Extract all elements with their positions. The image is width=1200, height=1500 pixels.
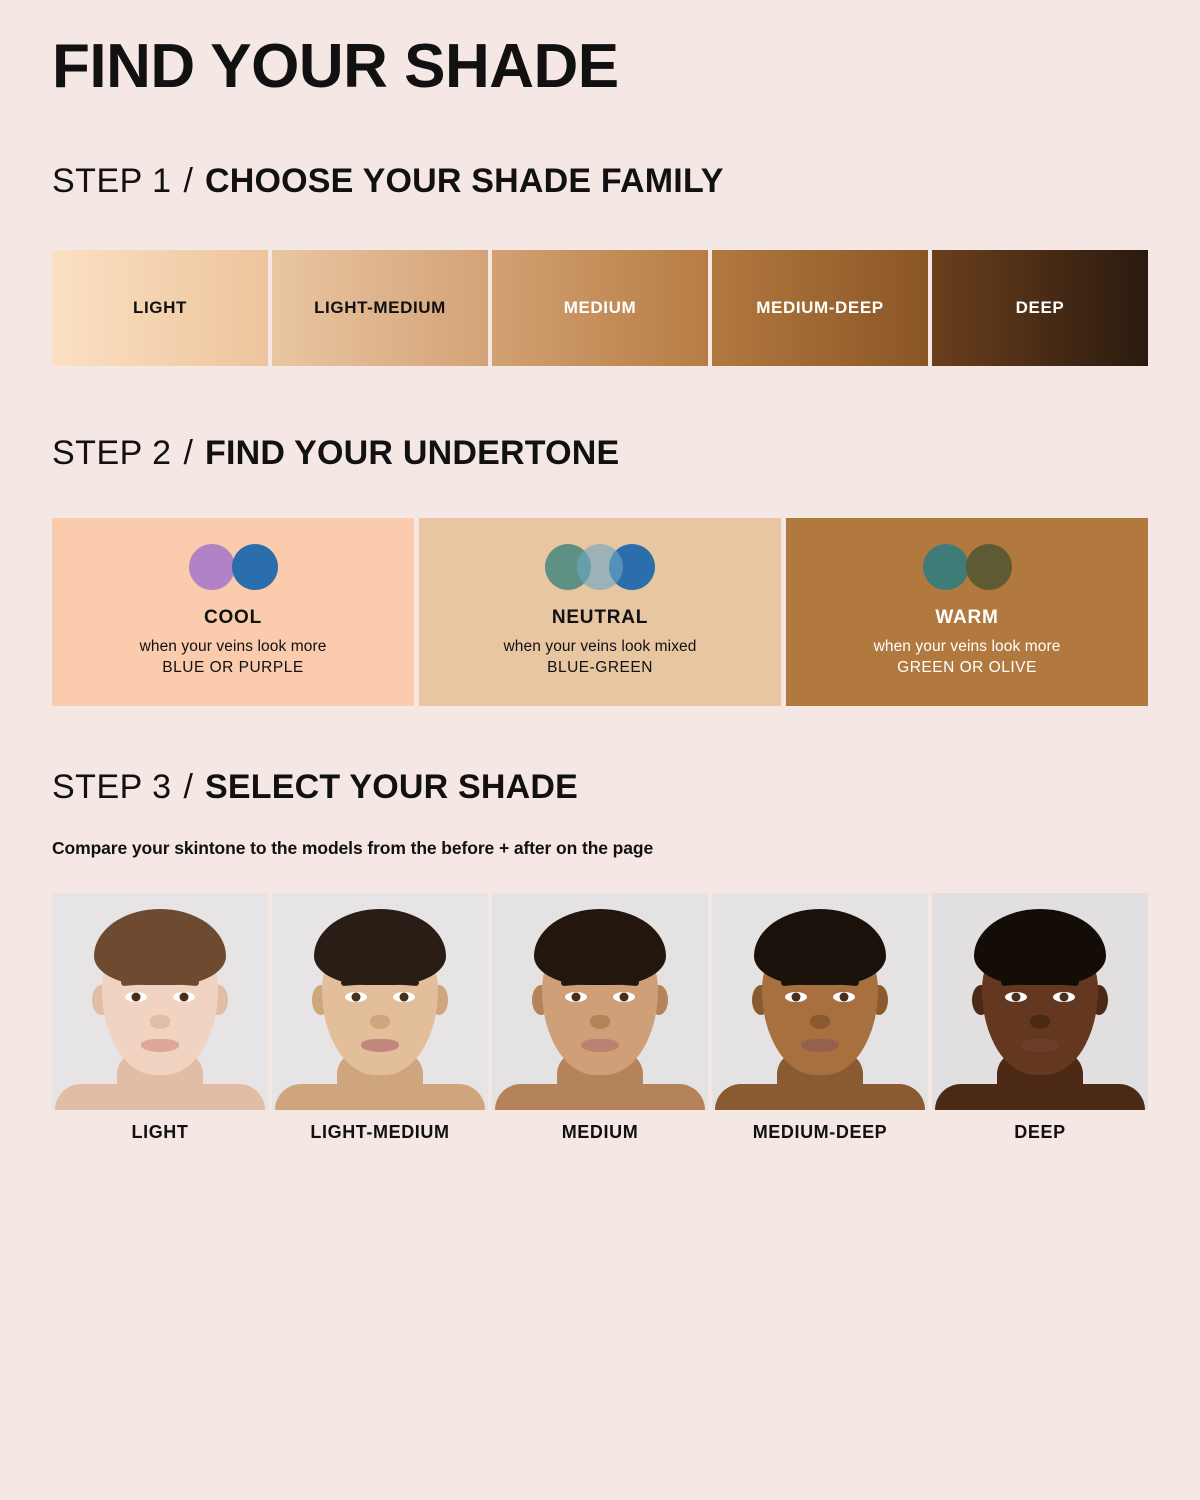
model-eye-left xyxy=(565,992,587,1002)
model-eye-left xyxy=(345,992,367,1002)
undertone-dots-icon xyxy=(52,544,414,590)
model-iris-left xyxy=(132,993,141,1002)
undertone-dots-icon xyxy=(786,544,1148,590)
model-lips xyxy=(141,1039,179,1052)
undertone-title: WARM xyxy=(786,607,1148,629)
shade-family-label: MEDIUM-DEEP xyxy=(756,298,884,318)
model-hair xyxy=(974,909,1106,985)
undertone-panel-cool[interactable]: COOLwhen your veins look moreBLUE OR PUR… xyxy=(52,518,414,706)
model-hair xyxy=(754,909,886,985)
step-2-title: FIND YOUR UNDERTONE xyxy=(205,434,619,472)
model-nose xyxy=(590,1015,610,1029)
model-face-illustration xyxy=(492,893,708,1110)
model-lips xyxy=(1021,1039,1059,1052)
model-hair xyxy=(534,909,666,985)
model-iris-left xyxy=(352,993,361,1002)
model-lips xyxy=(361,1039,399,1052)
undertone-panels: COOLwhen your veins look moreBLUE OR PUR… xyxy=(52,518,1148,706)
shade-family-bar: LIGHTLIGHT-MEDIUMMEDIUMMEDIUM-DEEPDEEP xyxy=(52,250,1148,366)
model-shade-label: DEEP xyxy=(932,1122,1148,1143)
model-photo[interactable] xyxy=(52,893,268,1110)
find-your-shade-page: FIND YOUR SHADE STEP 1/CHOOSE YOUR SHADE… xyxy=(0,0,1200,1500)
model-eye-right xyxy=(393,992,415,1002)
step-1-header: STEP 1/CHOOSE YOUR SHADE FAMILY xyxy=(52,164,724,198)
model-face-illustration xyxy=(712,893,928,1110)
undertone-panel-neutral[interactable]: NEUTRALwhen your veins look mixedBLUE-GR… xyxy=(419,518,781,706)
step-3-title: SELECT YOUR SHADE xyxy=(205,768,578,806)
model-iris-left xyxy=(792,993,801,1002)
shade-family-segment[interactable]: MEDIUM-DEEP xyxy=(712,250,928,366)
undertone-title: COOL xyxy=(52,607,414,629)
step-3-subcopy: Compare your skintone to the models from… xyxy=(52,838,653,859)
model-shade-label: MEDIUM xyxy=(492,1122,708,1143)
model-iris-left xyxy=(1012,993,1021,1002)
undertone-dot-icon xyxy=(923,544,969,590)
model-eye-left xyxy=(1005,992,1027,1002)
model-iris-right xyxy=(620,993,629,1002)
shade-family-segment[interactable]: LIGHT xyxy=(52,250,268,366)
step-1-title: CHOOSE YOUR SHADE FAMILY xyxy=(205,162,724,200)
model-face-illustration xyxy=(52,893,268,1110)
model-nose xyxy=(370,1015,390,1029)
model-face-illustration xyxy=(932,893,1148,1110)
model-lips xyxy=(801,1039,839,1052)
undertone-dot-icon xyxy=(577,544,623,590)
model-nose xyxy=(150,1015,170,1029)
undertone-dots-icon xyxy=(419,544,781,590)
model-photo[interactable] xyxy=(272,893,488,1110)
model-hair xyxy=(94,909,226,985)
model-eye-right xyxy=(833,992,855,1002)
undertone-title: NEUTRAL xyxy=(419,607,781,629)
model-photo[interactable] xyxy=(932,893,1148,1110)
undertone-description-line-1: when your veins look more xyxy=(52,638,414,656)
shade-family-segment[interactable]: LIGHT-MEDIUM xyxy=(272,250,488,366)
shade-family-segment[interactable]: DEEP xyxy=(932,250,1148,366)
undertone-dot-icon xyxy=(189,544,235,590)
model-iris-right xyxy=(400,993,409,1002)
shade-family-segment[interactable]: MEDIUM xyxy=(492,250,708,366)
model-hair xyxy=(314,909,446,985)
model-lips xyxy=(581,1039,619,1052)
model-eye-left xyxy=(125,992,147,1002)
model-photo-row xyxy=(52,893,1148,1110)
model-shade-label: LIGHT-MEDIUM xyxy=(272,1122,488,1143)
undertone-panel-warm[interactable]: WARMwhen your veins look moreGREEN OR OL… xyxy=(786,518,1148,706)
model-eye-right xyxy=(613,992,635,1002)
undertone-dot-icon xyxy=(966,544,1012,590)
step-2-header: STEP 2/FIND YOUR UNDERTONE xyxy=(52,436,619,470)
step-1-separator: / xyxy=(172,162,205,200)
model-nose xyxy=(1030,1015,1050,1029)
model-shade-label: LIGHT xyxy=(52,1122,268,1143)
model-face-illustration xyxy=(272,893,488,1110)
model-eye-right xyxy=(173,992,195,1002)
undertone-description-line-2: GREEN OR OLIVE xyxy=(786,659,1148,677)
model-nose xyxy=(810,1015,830,1029)
step-3-header: STEP 3/SELECT YOUR SHADE xyxy=(52,770,578,804)
undertone-description-line-2: BLUE-GREEN xyxy=(419,659,781,677)
step-2-number: STEP 2 xyxy=(52,434,172,472)
model-shade-label: MEDIUM-DEEP xyxy=(712,1122,928,1143)
undertone-description-line-1: when your veins look more xyxy=(786,638,1148,656)
shade-family-label: LIGHT xyxy=(133,298,187,318)
shade-family-label: MEDIUM xyxy=(564,298,637,318)
shade-family-label: LIGHT-MEDIUM xyxy=(314,298,446,318)
model-iris-right xyxy=(840,993,849,1002)
step-2-separator: / xyxy=(172,434,205,472)
model-photo[interactable] xyxy=(712,893,928,1110)
page-title: FIND YOUR SHADE xyxy=(52,36,619,98)
model-eye-left xyxy=(785,992,807,1002)
step-1-number: STEP 1 xyxy=(52,162,172,200)
undertone-description-line-1: when your veins look mixed xyxy=(419,638,781,656)
undertone-description-line-2: BLUE OR PURPLE xyxy=(52,659,414,677)
model-iris-left xyxy=(572,993,581,1002)
step-3-number: STEP 3 xyxy=(52,768,172,806)
model-iris-right xyxy=(180,993,189,1002)
shade-family-label: DEEP xyxy=(1016,298,1065,318)
model-eye-right xyxy=(1053,992,1075,1002)
model-label-row: LIGHTLIGHT-MEDIUMMEDIUMMEDIUM-DEEPDEEP xyxy=(52,1122,1148,1143)
undertone-dot-icon xyxy=(232,544,278,590)
model-iris-right xyxy=(1060,993,1069,1002)
step-3-separator: / xyxy=(172,768,205,806)
model-photo[interactable] xyxy=(492,893,708,1110)
